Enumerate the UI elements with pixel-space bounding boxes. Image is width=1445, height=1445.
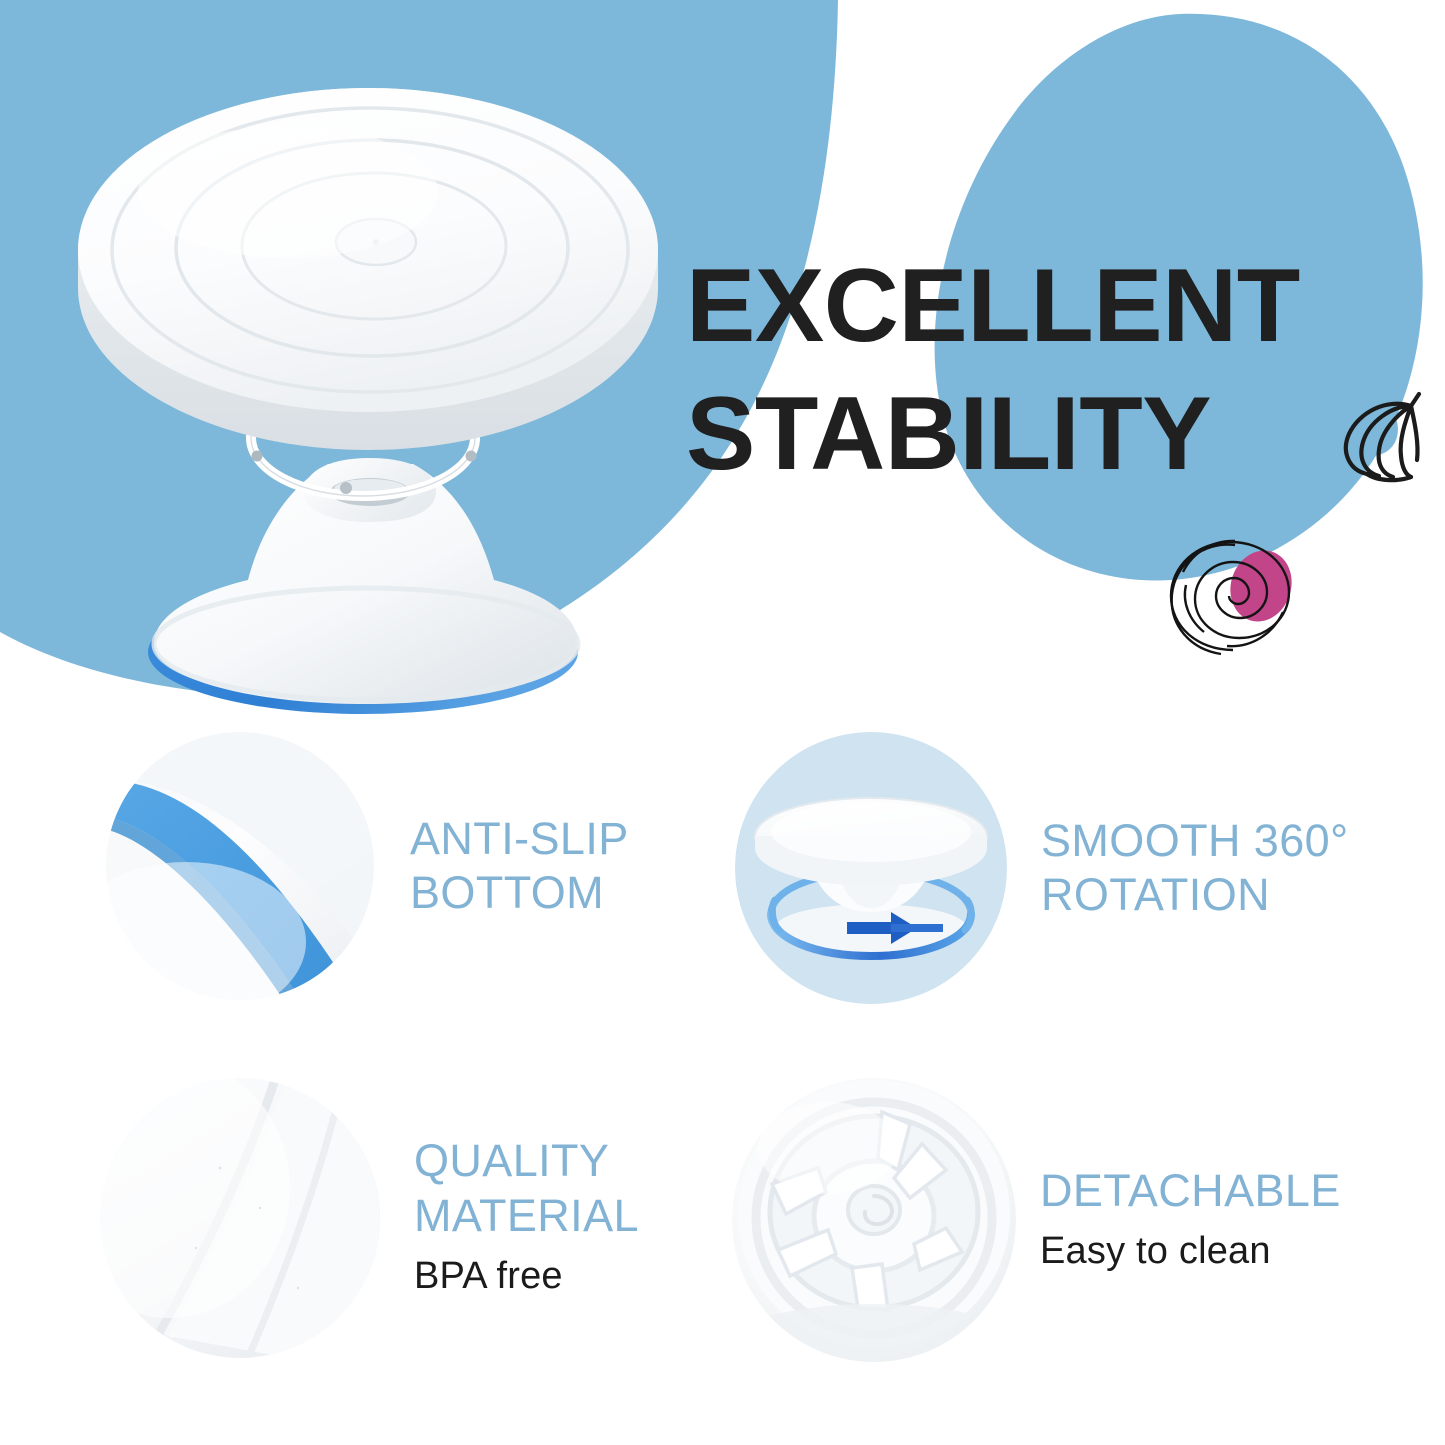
rose-swirl-icon	[1163, 528, 1303, 662]
feature-rotation: SMOOTH 360° ROTATION	[735, 732, 1348, 1004]
ring-rivet	[466, 451, 477, 462]
ring-rivet	[252, 451, 263, 462]
feature-detachable: DETACHABLE Easy to clean	[732, 1078, 1341, 1362]
feature-title: ANTI-SLIP BOTTOM	[410, 812, 629, 921]
quality-material-closeup	[100, 1078, 380, 1358]
feature-title: QUALITY MATERIAL	[414, 1134, 639, 1243]
rotation-diagram	[735, 732, 1007, 1004]
feature-subtitle: BPA free	[414, 1252, 639, 1301]
page-headline: EXCELLENT STABILITY	[686, 243, 1386, 499]
feature-title: DETACHABLE	[1040, 1164, 1341, 1218]
feature-anti-slip: ANTI-SLIP BOTTOM	[106, 732, 629, 1000]
feature-text: SMOOTH 360° ROTATION	[1041, 814, 1348, 923]
ring-rivet	[340, 482, 352, 494]
headline-line-2: STABILITY	[686, 371, 1386, 499]
infographic-canvas: EXCELLENT STABILITY	[0, 0, 1445, 1445]
feature-text: ANTI-SLIP BOTTOM	[410, 812, 629, 921]
anti-slip-bottom-closeup	[106, 732, 374, 1000]
feature-quality: QUALITY MATERIAL BPA free	[100, 1078, 639, 1358]
feature-text: QUALITY MATERIAL BPA free	[414, 1134, 639, 1301]
feature-title: SMOOTH 360° ROTATION	[1041, 814, 1348, 923]
hero-product-image	[58, 52, 698, 722]
headline-line-1: EXCELLENT	[686, 243, 1386, 371]
feature-text: DETACHABLE Easy to clean	[1040, 1164, 1341, 1277]
feature-subtitle: Easy to clean	[1040, 1227, 1341, 1276]
detachable-underside	[732, 1078, 1016, 1362]
whisk-icon	[1327, 382, 1433, 490]
